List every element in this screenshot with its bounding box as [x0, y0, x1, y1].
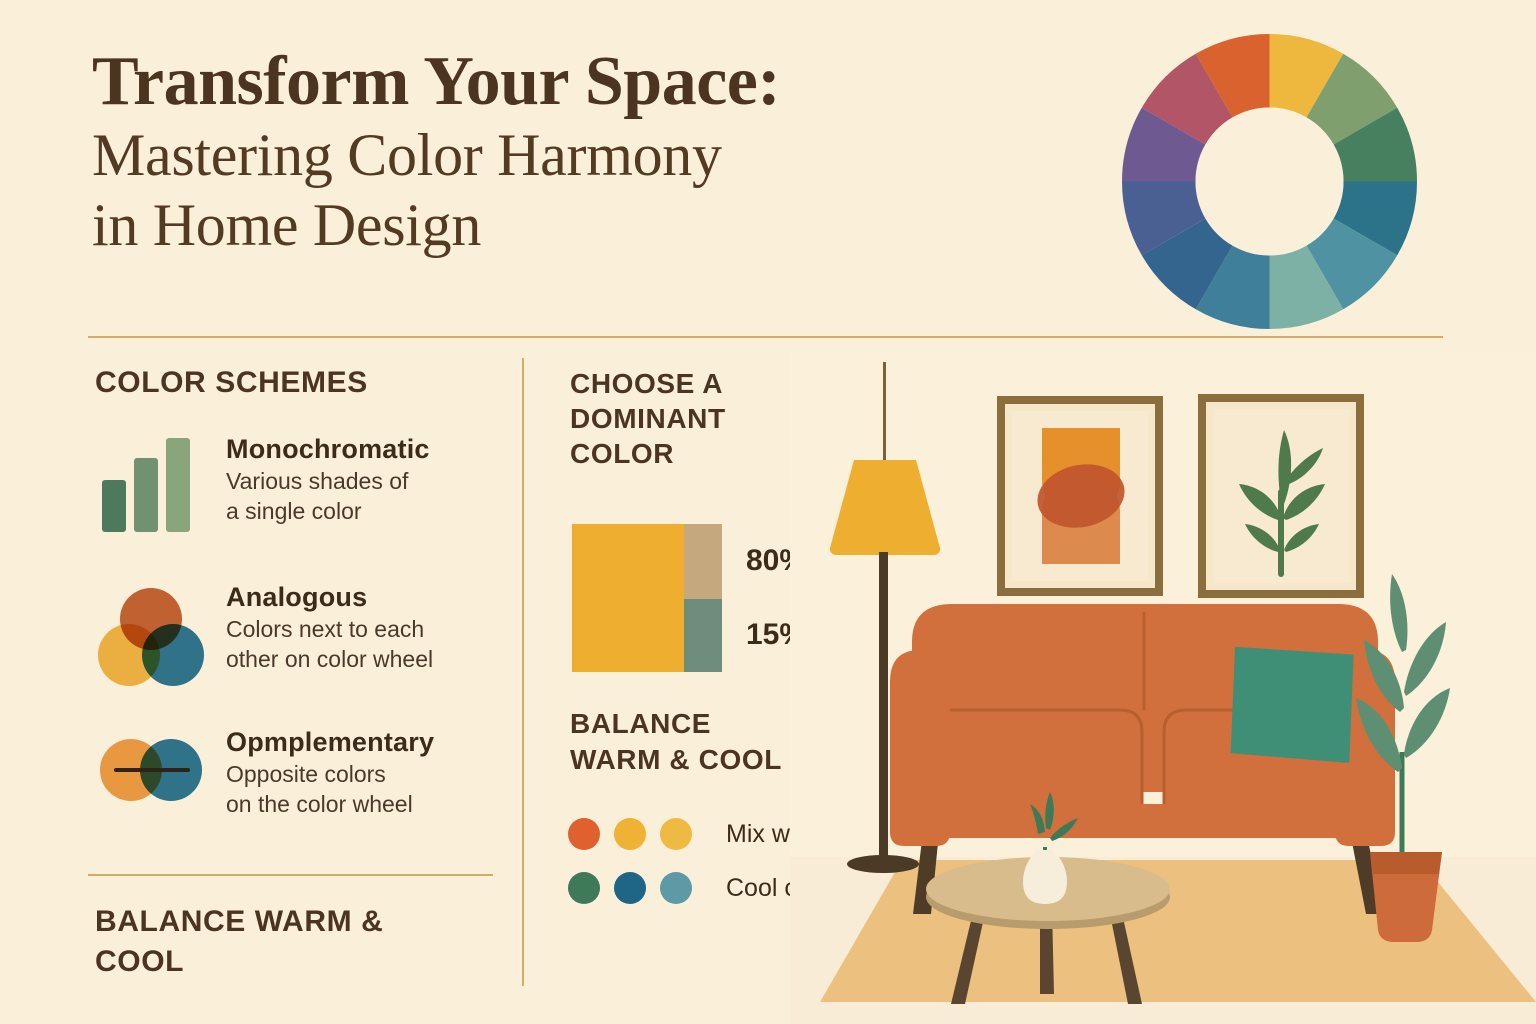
living-room-illustration: [790, 352, 1536, 1024]
living-room-svg: [790, 352, 1536, 1024]
scheme-desc-line-2: on the color wheel: [226, 789, 516, 819]
title-line-3: in Home Design: [92, 190, 1092, 260]
page-title: Transform Your Space: Mastering Color Ha…: [92, 44, 1092, 260]
swatch-dot: [614, 818, 646, 850]
wall-art-frame-left: [997, 396, 1163, 596]
footer-heading-line-2: COOL: [95, 942, 485, 982]
swatch-dot: [568, 818, 600, 850]
title-line-1: Transform Your Space:: [92, 44, 1092, 120]
column-divider: [522, 358, 524, 986]
scheme-desc-line-1: Opposite colors: [226, 759, 516, 789]
bar-chart-icon: [98, 440, 198, 540]
color-wheel-icon: [1122, 34, 1417, 329]
wall-art-frame-right: [1198, 394, 1364, 598]
mid-heading-line-1: CHOOSE A: [570, 366, 820, 401]
scheme-desc-line-2: other on color wheel: [226, 644, 516, 674]
mid-heading-line-2: DOMINANT: [570, 401, 820, 436]
scheme-name: Analogous: [226, 580, 516, 614]
scheme-name: Monochromatic: [226, 432, 516, 466]
swatch-accent-block: [684, 599, 722, 672]
title-line-2: Mastering Color Harmony: [92, 120, 1092, 190]
scheme-desc-line-1: Colors next to each: [226, 614, 516, 644]
middle-column-heading: CHOOSE A DOMINANT COLOR: [570, 366, 820, 471]
swatch-primary-block: [572, 524, 684, 672]
left-column-heading: COLOR SCHEMES: [95, 366, 368, 400]
footer-heading-line-1: BALANCE WARM &: [95, 902, 485, 942]
swatch-dot: [614, 872, 646, 904]
dominant-color-swatch: [572, 524, 722, 672]
swatch-dot: [568, 872, 600, 904]
mid-heading-line-3: COLOR: [570, 436, 820, 471]
swatch-dot: [660, 818, 692, 850]
scheme-name: Opmplementary: [226, 725, 516, 759]
color-wheel-svg: [1122, 34, 1417, 329]
left-column-footer-heading: BALANCE WARM & COOL: [95, 902, 485, 982]
header-divider: [88, 336, 1443, 338]
left-column-divider: [88, 874, 493, 876]
swatch-secondary-block: [684, 524, 722, 599]
three-circle-venn-icon: [98, 588, 208, 688]
two-circle-complement-icon: [98, 733, 208, 813]
infographic-root: Transform Your Space: Mastering Color Ha…: [0, 0, 1536, 1024]
swatch-dot: [660, 872, 692, 904]
scheme-desc-line-1: Various shades of: [226, 466, 516, 496]
scheme-desc-line-2: a single color: [226, 496, 516, 526]
